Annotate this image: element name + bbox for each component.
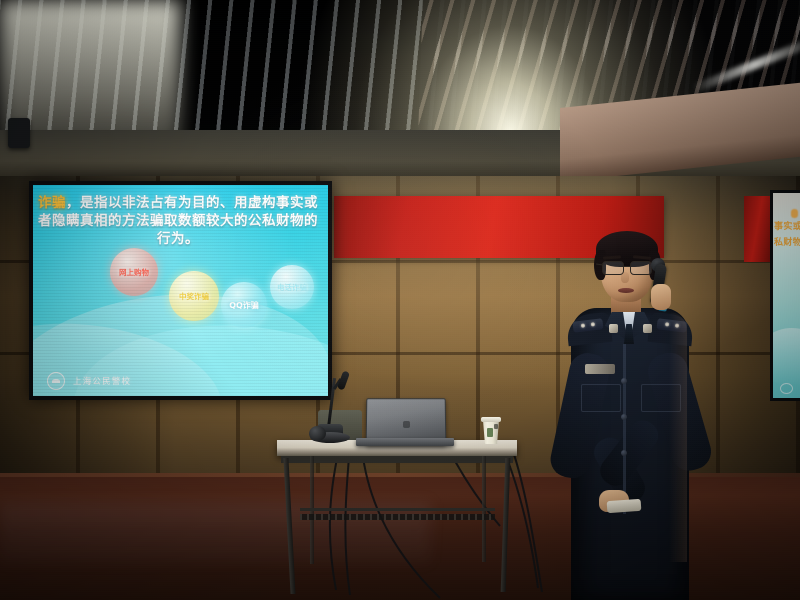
rank-star-icon: [591, 322, 595, 326]
table-apron: [281, 456, 513, 463]
secondary-screen-wave: [773, 328, 800, 386]
chest-pocket-left: [581, 384, 621, 412]
red-backdrop-banner-right: [744, 196, 770, 262]
rim-light: [669, 312, 687, 562]
table-shelf-rail: [300, 508, 495, 511]
cable-coil: [309, 426, 326, 441]
secondary-screen-line-1: 事实或: [774, 221, 800, 234]
laptop-logo-icon: [403, 421, 410, 428]
secondary-screen: 事实或 私财物: [773, 193, 800, 398]
collar-badge-right-icon: [643, 324, 652, 333]
note-card: [607, 499, 642, 513]
paper-cup-lid: [481, 417, 501, 422]
jacket-button: [621, 378, 627, 384]
chest-insignia-icon: [585, 364, 615, 374]
speaker-police-officer: [565, 228, 695, 600]
wall-speaker-box: [8, 118, 30, 148]
projection-screen-frame: 诈骗，是指以非法占有为目的、用虚构事实或者隐瞒真相的方法骗取数额较大的公私财物的…: [29, 181, 332, 400]
rank-star-icon: [581, 323, 585, 327]
projection-screen: 诈骗，是指以非法占有为目的、用虚构事实或者隐瞒真相的方法骗取数额较大的公私财物的…: [33, 185, 328, 396]
jacket-button: [621, 450, 627, 456]
glasses-bridge: [622, 266, 630, 267]
secondary-screen-title-fragment: [791, 209, 798, 218]
laptop-base[interactable]: [356, 438, 454, 446]
glasses-lens-right: [630, 261, 652, 275]
screen-scanlines: [33, 185, 328, 396]
jacket-placket: [623, 344, 626, 514]
table-lower-shelf: [300, 514, 495, 520]
paper-cup-label-secondary: [494, 424, 498, 429]
paper-cup-label: [487, 428, 493, 437]
mouth: [618, 288, 634, 293]
secondary-screen-line-2: 私财物: [774, 237, 800, 250]
secondary-screen-logo-icon: [780, 383, 793, 394]
hand-right-holding-microphone: [651, 284, 671, 310]
nose: [621, 272, 629, 283]
ceiling: [0, 0, 800, 182]
secondary-screen-frame: 事实或 私财物: [770, 190, 800, 401]
collar-badge-left-icon: [609, 324, 618, 333]
jacket-button: [621, 414, 627, 420]
lecture-hall-photo: 诈骗，是指以非法占有为目的、用虚构事实或者隐瞒真相的方法骗取数额较大的公私财物的…: [0, 0, 800, 600]
